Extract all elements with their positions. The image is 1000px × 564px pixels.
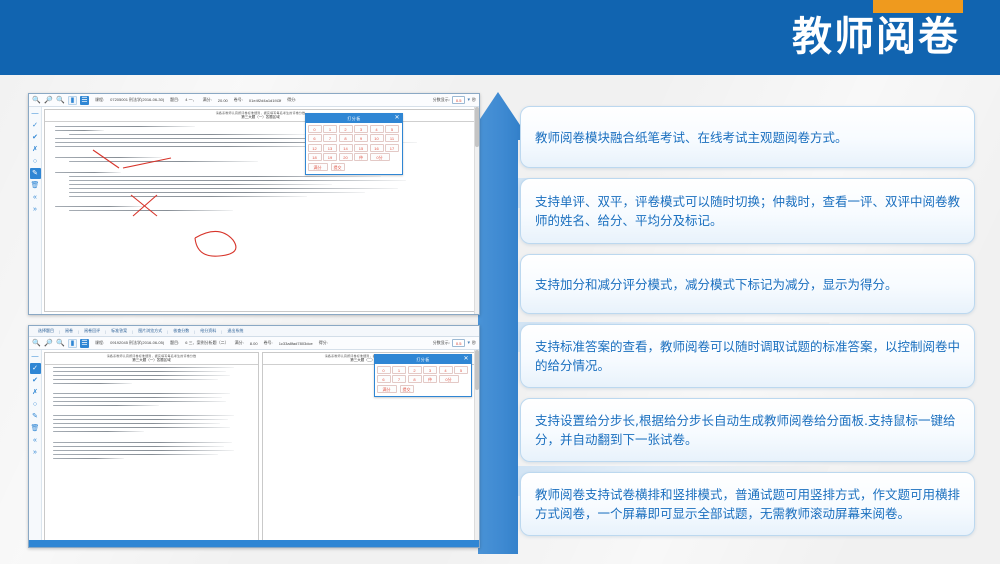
close-icon[interactable]: ✕ — [463, 355, 469, 364]
bottom-annotation-toolstrip[interactable]: — ✓ ✔ ✗ ○ ✎ 🗑 « » — [29, 350, 42, 547]
handwriting-block — [45, 367, 258, 462]
score-key[interactable]: 19 — [323, 153, 337, 161]
double-page-icon[interactable]: ☰ — [80, 339, 89, 348]
score-key[interactable]: 1 — [392, 366, 406, 374]
check-icon[interactable]: ✓ — [30, 120, 41, 131]
score-key[interactable]: 13 — [323, 144, 337, 152]
top-toolbar[interactable]: 🔍 🔎 🔍 ▮ ☰ 课程: 07205001 刑法学(2016-06-30) 题… — [29, 94, 479, 107]
menu-item-image-view-mode[interactable]: 图片浏览方式 — [133, 328, 167, 334]
feature-card-text: 教师阅卷模块融合纸笔考试、在线考试主观题阅卷方式。 — [535, 128, 848, 147]
bottom-toolbar[interactable]: 🔍 🔎 🔍 ▮ ☰ 课程: 09192045 刑法学(2016-06-05) 题… — [29, 337, 479, 350]
toolbar-display-group[interactable]: 分数显示: 0.5 ▾ 秒 — [433, 96, 476, 104]
circle-icon[interactable]: ○ — [30, 156, 41, 167]
zoom-out-icon[interactable]: 🔎 — [44, 96, 53, 105]
submit-score-button[interactable]: 提交 — [331, 163, 345, 171]
score-key[interactable]: 12 — [308, 144, 322, 152]
bottom-workspace: — ✓ ✔ ✗ ○ ✎ 🗑 « » 请各系教师认真按评卷标准细则，据实填写每名考… — [29, 350, 479, 547]
toolbar-fullmark-label: 满分: — [203, 97, 212, 103]
feature-card-2: 支持单评、双平，评卷模式可以随时切换；仲裁时，查看一评、双评中阅卷教师的姓名、给… — [520, 178, 975, 244]
minus-icon[interactable]: — — [30, 351, 41, 362]
toolbar-score-label: 得分: — [287, 97, 296, 103]
toolbar-question-value: 4 一、 — [185, 97, 196, 103]
cross-icon[interactable]: ✗ — [30, 387, 41, 398]
next-icon[interactable]: » — [30, 447, 41, 458]
toolbar-fullmark-label: 满分: — [235, 340, 244, 346]
feature-card-text: 教师阅卷支持试卷横排和竖排模式，普通试题可用竖排方式，作文题可用横排方式阅卷，一… — [535, 485, 960, 523]
menu-item-marking[interactable]: 阅卷 — [60, 328, 78, 334]
score-key[interactable]: 11 — [385, 134, 399, 142]
score-key[interactable]: 16 — [370, 144, 384, 152]
score-display-unit: 秒 — [472, 340, 476, 346]
top-workspace: — ✓ ✔ ✗ ○ ✎ 🗑 « » 请各系教师认真按评卷标准细则，据实填写每名考… — [29, 107, 479, 314]
score-key[interactable]: 9 — [354, 134, 368, 142]
zoom-in-icon[interactable]: 🔍 — [32, 96, 41, 105]
screenshot-bottom-window[interactable]: 选择题目 | 阅卷 | 阅卷回评 | 标准答案 | 图片浏览方式 | 核查分数 … — [28, 325, 480, 548]
menu-item-review[interactable]: 阅卷回评 — [79, 328, 105, 334]
bottom-scrollbar[interactable] — [474, 350, 479, 547]
score-key[interactable]: 8 — [408, 375, 422, 383]
toolbar-question-label: 题目: — [170, 97, 179, 103]
score-key[interactable]: 6 — [308, 134, 322, 142]
score-display-input[interactable]: 0.5 — [452, 96, 466, 104]
score-key[interactable]: 7 — [392, 375, 406, 383]
zoom-in-icon[interactable]: 🔍 — [32, 339, 41, 348]
score-key[interactable]: 5 — [454, 366, 468, 374]
feature-card-3: 支持加分和减分评分模式，减分模式下标记为减分，显示为得分。 — [520, 254, 975, 314]
score-key[interactable]: 5 — [385, 125, 399, 133]
screenshot-top-window[interactable]: 🔍 🔎 🔍 ▮ ☰ 课程: 07205001 刑法学(2016-06-30) 题… — [28, 93, 480, 315]
toolbar-question-label: 题目: — [170, 340, 179, 346]
score-key[interactable]: 4 — [439, 366, 453, 374]
top-answer-sheet[interactable]: 请各系教师认真按评卷标准细则，据实填写每名考生的评卷分数 第三大题（一）答题区域 — [44, 109, 477, 312]
top-annotation-toolstrip[interactable]: — ✓ ✔ ✗ ○ ✎ 🗑 « » — [29, 107, 42, 314]
red-annotations — [45, 110, 476, 311]
top-score-panel[interactable]: 打分板 ✕ 0 1 2 3 4 5 6 7 8 9 10 11 12 13 14… — [305, 113, 403, 175]
score-panel-title: 打分板 — [347, 116, 361, 122]
score-key[interactable]: 0 — [308, 125, 322, 133]
pen-icon[interactable]: ✎ — [30, 411, 41, 422]
prev-icon[interactable]: « — [30, 435, 41, 446]
score-key[interactable]: 4 — [370, 125, 384, 133]
score-key[interactable]: 2 — [408, 366, 422, 374]
score-key[interactable]: 10 — [370, 134, 384, 142]
toolbar-score-label: 得分: — [319, 340, 328, 346]
feature-card-text: 支持加分和减分评分模式，减分模式下标记为减分，显示为得分。 — [535, 275, 898, 294]
zero-score-key[interactable]: 0分 — [370, 153, 390, 161]
score-display-label: 分数显示: — [433, 97, 450, 103]
menu-item-standard-answer[interactable]: 标准答案 — [106, 328, 132, 334]
score-key[interactable]: 18 — [308, 153, 322, 161]
circle-icon[interactable]: ○ — [30, 399, 41, 410]
toolbar-paperno-value: 01e4f2d4a1d1f43f — [249, 98, 281, 103]
feature-card-text: 支持单评、双平，评卷模式可以随时切换；仲裁时，查看一评、双评中阅卷教师的姓名、给… — [535, 192, 960, 230]
single-page-icon[interactable]: ▮ — [68, 339, 77, 348]
single-page-icon[interactable]: ▮ — [68, 96, 77, 105]
top-scrollbar[interactable] — [474, 107, 479, 314]
zoom-out-icon[interactable]: 🔎 — [44, 339, 53, 348]
feature-card-text: 支持标准答案的查看，教师阅卷可以随时调取试题的标准答案，以控制阅卷中的给分情况。 — [535, 337, 960, 375]
toolbar-paperno-label: 卷号: — [234, 97, 243, 103]
score-key[interactable]: 20 — [339, 153, 353, 161]
feature-card-6: 教师阅卷支持试卷横排和竖排模式，普通试题可用竖排方式，作文题可用横排方式阅卷，一… — [520, 472, 975, 536]
toolbar-course-value: 07205001 刑法学(2016-06-30) — [110, 97, 164, 103]
menu-item-select-question[interactable]: 选择题目 — [33, 328, 59, 334]
score-display-input[interactable]: 0.5 — [452, 339, 466, 347]
toolbar-fullmark-value: 20.00 — [218, 98, 228, 103]
menu-item-check-score[interactable]: 核查分数 — [168, 328, 194, 334]
score-panel-title-bar: 打分板 ✕ — [375, 355, 471, 364]
zoom-reset-icon[interactable]: 🔍 — [56, 96, 65, 105]
toolbar-course-label: 课程: — [95, 97, 104, 103]
feature-card-1: 教师阅卷模块融合纸笔考试、在线考试主观题阅卷方式。 — [520, 106, 975, 168]
bottom-menubar[interactable]: 选择题目 | 阅卷 | 阅卷回评 | 标准答案 | 图片浏览方式 | 核查分数 … — [29, 326, 479, 337]
cross-icon[interactable]: ✗ — [30, 144, 41, 155]
score-key[interactable]: 7 — [323, 134, 337, 142]
trash-icon[interactable]: 🗑 — [30, 423, 41, 434]
trash-icon[interactable]: 🗑 — [30, 180, 41, 191]
feature-card-text: 支持设置给分步长,根据给分步长自动生成教师阅卷给分面板.支持鼠标一键给分，并自动… — [535, 411, 960, 449]
half-check-icon[interactable]: ✔ — [30, 375, 41, 386]
score-key[interactable]: 6 — [377, 375, 391, 383]
chevron-down-icon[interactable]: ▾ — [467, 97, 470, 103]
score-key[interactable]: 17 — [385, 144, 399, 152]
score-panel-keypad[interactable]: 0 1 2 3 4 5 6 7 8 仲 0分 满分 提交 — [375, 364, 471, 396]
toolbar-fullmark-value: 8.00 — [250, 341, 258, 346]
chevron-down-icon[interactable]: ▾ — [467, 340, 470, 346]
zoom-reset-icon[interactable]: 🔍 — [56, 339, 65, 348]
score-key[interactable]: 2 — [339, 125, 353, 133]
page-header: 教师阅卷 — [0, 0, 1000, 75]
score-key[interactable]: 3 — [423, 366, 437, 374]
toolbar-course-label: 课程: — [95, 340, 104, 346]
score-key[interactable]: 1 — [323, 125, 337, 133]
feature-card-5: 支持设置给分步长,根据给分步长自动生成教师阅卷给分面板.支持鼠标一键给分，并自动… — [520, 398, 975, 462]
paper-section-title: 第三大题（一）答题区域 — [45, 358, 258, 365]
toolbar-display-group[interactable]: 分数显示: 0.5 ▾ 秒 — [433, 339, 476, 347]
page-title: 教师阅卷 — [792, 8, 960, 66]
full-score-key[interactable]: 满分 — [308, 163, 328, 171]
half-check-icon[interactable]: ✔ — [30, 132, 41, 143]
top-paper-area: 请各系教师认真按评卷标准细则，据实填写每名考生的评卷分数 第三大题（一）答题区域 — [42, 107, 479, 314]
score-key[interactable]: 15 — [354, 144, 368, 152]
score-key[interactable]: 0 — [377, 366, 391, 374]
minus-icon[interactable]: — — [30, 108, 41, 119]
score-panel-title: 打分板 — [416, 357, 430, 363]
menu-item-score-data[interactable]: 给分资料 — [195, 328, 221, 334]
arbitration-key[interactable]: 仲 — [354, 153, 368, 161]
zero-score-key[interactable]: 0分 — [439, 375, 459, 383]
pen-icon[interactable]: ✎ — [30, 168, 41, 179]
score-key[interactable]: 8 — [339, 134, 353, 142]
check-icon[interactable]: ✓ — [30, 363, 41, 374]
score-key[interactable]: 14 — [339, 144, 353, 152]
close-icon[interactable]: ✕ — [394, 114, 400, 123]
score-panel-keypad[interactable]: 0 1 2 3 4 5 6 7 8 9 10 11 12 13 14 15 16… — [306, 123, 402, 174]
score-key[interactable]: 3 — [354, 125, 368, 133]
prev-icon[interactable]: « — [30, 192, 41, 203]
toolbar-course-value: 09192045 刑法学(2016-06-05) — [110, 340, 164, 346]
next-icon[interactable]: » — [30, 204, 41, 215]
full-score-key[interactable]: 满分 — [377, 385, 397, 393]
score-display-unit: 秒 — [472, 97, 476, 103]
score-display-label: 分数显示: — [433, 340, 450, 346]
toolbar-paperno-value: 1c33a8fad7803dce — [279, 341, 313, 346]
submit-score-button[interactable]: 提交 — [400, 385, 414, 393]
bottom-statusbar — [29, 540, 479, 547]
bottom-answer-sheet-left[interactable]: 请各系教师认真按评卷标准细则，据实填写每名考生的评卷分数 第三大题（一）答题区域 — [44, 352, 259, 545]
score-panel-title-bar: 打分板 ✕ — [306, 114, 402, 123]
toolbar-question-value: 6 三、案例分析题（二） — [185, 340, 228, 346]
menu-item-exit[interactable]: 退出系统 — [222, 328, 248, 334]
bottom-score-panel[interactable]: 打分板 ✕ 0 1 2 3 4 5 6 7 8 仲 0分 满分 提交 — [374, 354, 472, 397]
feature-card-4: 支持标准答案的查看，教师阅卷可以随时调取试题的标准答案，以控制阅卷中的给分情况。 — [520, 324, 975, 388]
arbitration-key[interactable]: 仲 — [423, 375, 437, 383]
double-page-icon[interactable]: ☰ — [80, 96, 89, 105]
toolbar-paperno-label: 卷号: — [264, 340, 273, 346]
